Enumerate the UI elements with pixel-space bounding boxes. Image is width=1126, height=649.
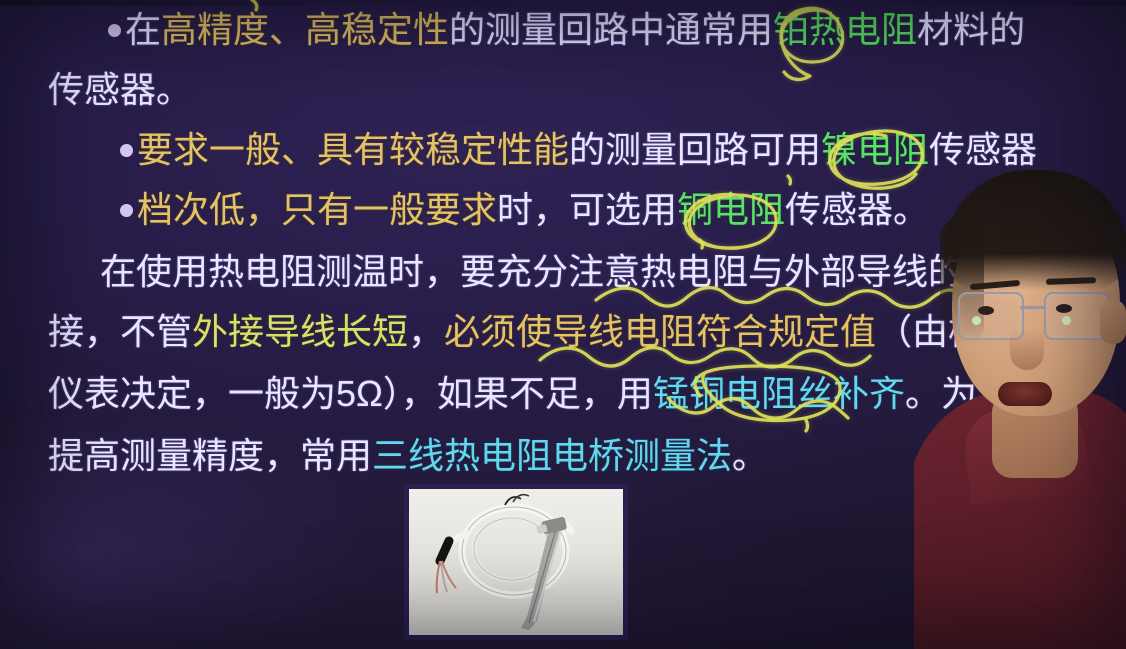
text-segment: 的测量回路中通常用: [449, 9, 773, 50]
glasses-glint-left: [972, 316, 981, 325]
bullet-icon: [120, 204, 133, 217]
text-segment: 传感器。: [785, 189, 929, 230]
slide-line-7: 仪表决定，一般为5Ω），如果不足，用锰铜电阻丝补齐。为了: [48, 376, 1013, 412]
bullet-icon: [108, 24, 121, 37]
presenter-eye-right: [1056, 304, 1072, 313]
text-segment: 在使用热电阻测温时，要充分注意热电阻与外部导线的: [100, 251, 964, 292]
sensor-photo: [404, 484, 628, 640]
text-segment-highlight-yellowgreen: 外接导线长短: [192, 311, 408, 352]
text-segment: 的测量回路可用: [569, 129, 821, 170]
presenter-eye-left: [978, 306, 994, 315]
text-segment-highlight-gold: 要求一般、具有较稳定性能: [137, 129, 569, 170]
text-segment: 在: [125, 9, 161, 50]
text-segment-highlight-green: 镍电阻: [821, 129, 929, 170]
text-segment: 接，不管: [48, 311, 192, 352]
video-lecture-frame: 在高精度、高稳定性的测量回路中通常用铂热电阻材料的 传感器。 要求一般、具有较稳…: [0, 0, 1126, 649]
glasses-bridge: [1020, 306, 1044, 309]
text-segment-highlight-gold: 档次低，只有一般要求: [137, 189, 497, 230]
text-segment: ，: [408, 311, 444, 352]
sensor-photo-image: [409, 489, 623, 635]
presenter-nose: [1010, 330, 1044, 370]
slide-line-3: 要求一般、具有较稳定性能的测量回路可用镍电阻传感器: [120, 132, 1037, 168]
text-segment-highlight-cyan: 三线热电阻电桥测量法: [372, 435, 732, 476]
text-segment-highlight-green: 铂热电阻: [773, 9, 917, 50]
text-segment-highlight-cyan: 锰铜电阻丝补齐: [653, 373, 905, 414]
text-segment-highlight-gold: 高精度、高稳定性: [161, 9, 449, 50]
slide-line-1: 在高精度、高稳定性的测量回路中通常用铂热电阻材料的: [108, 12, 1025, 48]
slide-line-8: 提高测量精度，常用三线热电阻电桥测量法。: [48, 438, 768, 474]
presenter-ear: [1100, 300, 1126, 344]
slide-line-2: 传感器。: [48, 72, 192, 108]
rtd-probe-illustration: [409, 489, 623, 635]
text-segment: 传感器。: [48, 69, 192, 110]
slide-line-5: 在使用热电阻测温时，要充分注意热电阻与外部导线的: [100, 254, 964, 290]
glasses-glint-right: [1062, 316, 1071, 325]
text-segment: 提高测量精度，常用: [48, 435, 372, 476]
presenter-video-overlay: [914, 0, 1126, 649]
slide-line-4: 档次低，只有一般要求时，可选用铜电阻传感器。: [120, 192, 929, 228]
text-segment: 。: [732, 435, 768, 476]
bullet-icon: [120, 144, 133, 157]
text-segment: 时，可选用: [497, 189, 677, 230]
text-segment-highlight-green: 铜电阻: [677, 189, 785, 230]
text-segment-highlight-gold: 必须使导线电阻符合规定值: [444, 311, 876, 352]
slide-line-6: 接，不管外接导线长短，必须使导线电阻符合规定值（由检: [48, 314, 984, 350]
presenter-mouth: [998, 382, 1052, 406]
text-segment: 仪表决定，一般为5Ω），如果不足，用: [48, 373, 653, 414]
